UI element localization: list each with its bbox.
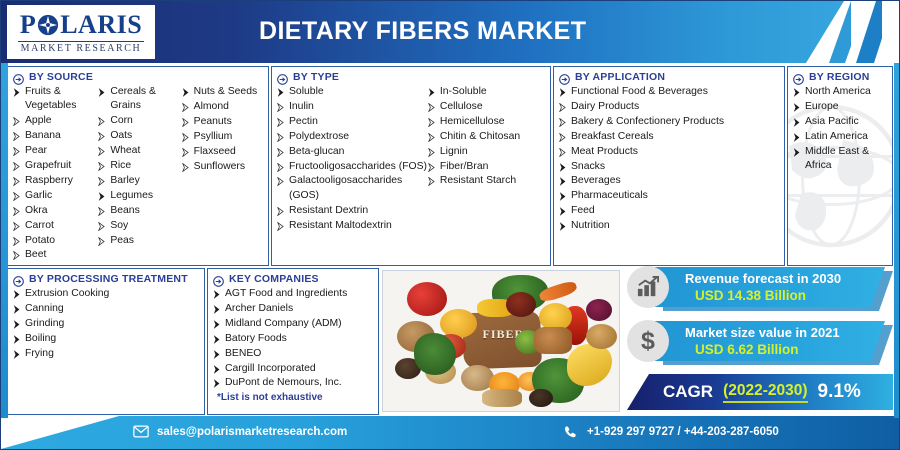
- chevron-outline-icon: [98, 159, 106, 173]
- chevron-outline-icon: [559, 130, 567, 144]
- chevron-outline-icon: [13, 204, 21, 218]
- chevron-outline-icon: [428, 130, 436, 144]
- photo-bread: [534, 327, 572, 354]
- section-header-by-region: BY REGION: [793, 71, 887, 83]
- chevron-outline-icon: [559, 115, 567, 129]
- dollar-sign-icon: $: [627, 320, 669, 362]
- list-item-label: Sunflowers: [194, 160, 263, 174]
- list-item-label: Barley: [110, 174, 181, 188]
- logo-wordmark: P LARIS: [20, 10, 142, 40]
- chevron-outline-icon: [13, 234, 21, 248]
- list-item-label: Breakfast Cereals: [571, 130, 779, 144]
- arrow-circle-icon: [277, 72, 288, 83]
- panel-by-processing-treatment: BY PROCESSING TREATMENT Extrusion Cookin…: [7, 268, 205, 415]
- list-item-label: Chitin & Chitosan: [440, 130, 545, 144]
- panel-by-application: BY APPLICATION Functional Food & Beverag…: [553, 66, 785, 266]
- list-item: Cargill Incorporated: [213, 362, 373, 376]
- list-item: Banana: [13, 129, 98, 143]
- key-companies-col-0: AGT Food and IngredientsArcher DanielsMi…: [213, 287, 373, 391]
- list-item: Polydextrose: [277, 130, 428, 144]
- section-title: BY REGION: [809, 71, 870, 83]
- chevron-outline-icon: [182, 160, 190, 174]
- list-item-label: Meat Products: [571, 145, 779, 159]
- chevron-outline-icon: [428, 100, 436, 114]
- by-region-columns: North AmericaEuropeAsia PacificLatin Ame…: [793, 85, 887, 174]
- phone-icon: [563, 425, 579, 439]
- chevron-outline-icon: [98, 144, 106, 158]
- list-item: Batory Foods: [213, 332, 373, 346]
- panel-key-companies: KEY COMPANIES AGT Food and IngredientsAr…: [207, 268, 379, 415]
- header: P LARIS MARKET RESEARCH DIETARY FIBERS M…: [1, 1, 899, 63]
- list-item-label: Midland Company (ADM): [225, 317, 373, 331]
- list-item-label: Boiling: [25, 332, 199, 346]
- envelope-icon: [133, 425, 149, 439]
- arrow-circle-icon: [213, 274, 224, 285]
- list-item: Nutrition: [559, 219, 779, 233]
- list-item: Resistant Starch: [428, 174, 545, 188]
- list-item: AGT Food and Ingredients: [213, 287, 373, 301]
- chevron-outline-icon: [98, 219, 106, 233]
- list-item: BENEO: [213, 347, 373, 361]
- chevron-outline-icon: [277, 130, 285, 144]
- chevron-solid-icon: [213, 317, 221, 331]
- callout-value: USD 14.38 Billion: [695, 288, 806, 303]
- chevron-solid-icon: [559, 189, 567, 203]
- chevron-solid-icon: [793, 145, 801, 159]
- list-item: Functional Food & Beverages: [559, 85, 779, 99]
- logo-letter-p: P: [20, 10, 36, 40]
- list-item-label: Hemicellulose: [440, 115, 545, 129]
- list-item-label: Potato: [25, 234, 98, 248]
- list-item-label: Pectin: [289, 115, 428, 129]
- list-item-label: Resistant Dextrin: [289, 204, 428, 218]
- chevron-outline-icon: [277, 145, 285, 159]
- chevron-outline-icon: [13, 144, 21, 158]
- chevron-outline-icon: [13, 159, 21, 173]
- list-item: Sunflowers: [182, 160, 263, 174]
- callout-value: USD 6.62 Billion: [695, 342, 799, 357]
- list-item: Corn: [98, 114, 181, 128]
- chevron-outline-icon: [13, 219, 21, 233]
- chevron-outline-icon: [182, 130, 190, 144]
- list-item-label: Nuts & Seeds: [194, 85, 263, 99]
- chevron-solid-icon: [559, 174, 567, 188]
- list-item: Almond: [182, 100, 263, 114]
- cagr-period: (2022-2030): [723, 382, 807, 403]
- list-item: Beta-glucan: [277, 145, 428, 159]
- chevron-outline-icon: [428, 160, 436, 174]
- list-item-label: Cereals & Grains: [110, 85, 181, 114]
- list-item-label: Canning: [25, 302, 199, 316]
- chevron-solid-icon: [213, 287, 221, 301]
- list-item-label: Soluble: [289, 85, 428, 99]
- list-item-label: BENEO: [225, 347, 373, 361]
- chevron-outline-icon: [182, 100, 190, 114]
- chevron-solid-icon: [277, 85, 285, 99]
- list-item: Inulin: [277, 100, 428, 114]
- chevron-outline-icon: [98, 174, 106, 188]
- list-item: Rice: [98, 159, 181, 173]
- list-item: Grapefruit: [13, 159, 98, 173]
- callout-label: Market size value in 2021: [685, 325, 840, 340]
- list-item-label: Fructooligosaccharides (FOS): [289, 160, 428, 174]
- list-item: Nuts & Seeds: [182, 85, 263, 99]
- section-title: BY APPLICATION: [575, 71, 665, 83]
- list-item: Midland Company (ADM): [213, 317, 373, 331]
- arrow-circle-icon: [13, 72, 24, 83]
- list-item-label: Banana: [25, 129, 98, 143]
- list-item-label: Almond: [194, 100, 263, 114]
- section-header-by-processing-treatment: BY PROCESSING TREATMENT: [13, 273, 199, 285]
- list-item: Feed: [559, 204, 779, 218]
- list-item-label: Latin America: [805, 130, 887, 144]
- list-item-label: Resistant Starch: [440, 174, 545, 188]
- chevron-outline-icon: [277, 219, 285, 233]
- page-title: DIETARY FIBERS MARKET: [259, 17, 586, 46]
- list-item: North America: [793, 85, 887, 99]
- list-item: Fruits & Vegetables: [13, 85, 98, 114]
- footer-email[interactable]: sales@polarismarketresearch.com: [133, 425, 347, 439]
- by-region-col-0: North AmericaEuropeAsia PacificLatin Ame…: [793, 85, 887, 174]
- list-item-label: Extrusion Cooking: [25, 287, 199, 301]
- list-item: Cereals & Grains: [98, 85, 181, 114]
- chevron-solid-icon: [13, 302, 21, 316]
- list-item-label: Cellulose: [440, 100, 545, 114]
- chevron-outline-icon: [428, 145, 436, 159]
- photo-kale-left: [414, 333, 456, 375]
- panel-by-region: BY REGION North AmericaEuropeAsia Pacifi…: [787, 66, 893, 266]
- footer-phone-text: +1-929 297 9727 / +44-203-287-6050: [587, 426, 779, 438]
- list-item: In-Soluble: [428, 85, 545, 99]
- chevron-solid-icon: [213, 332, 221, 346]
- list-item: Cellulose: [428, 100, 545, 114]
- list-item-label: Flaxseed: [194, 145, 263, 159]
- list-item-label: Frying: [25, 347, 199, 361]
- list-item-label: Bakery & Confectionery Products: [571, 115, 779, 129]
- list-item-label: Grapefruit: [25, 159, 98, 173]
- chevron-solid-icon: [428, 85, 436, 99]
- panel-by-type: BY TYPE SolubleInulinPectinPolydextroseB…: [271, 66, 551, 266]
- arrow-circle-icon: [559, 72, 570, 83]
- list-item-label: Nutrition: [571, 219, 779, 233]
- footer-white-wedge: [1, 416, 151, 449]
- list-item: Pear: [13, 144, 98, 158]
- by-processing-columns: Extrusion CookingCanningGrindingBoilingF…: [13, 287, 199, 362]
- chevron-solid-icon: [793, 115, 801, 129]
- chevron-outline-icon: [13, 129, 21, 143]
- list-item-label: Beet: [25, 248, 98, 262]
- chevron-outline-icon: [98, 129, 106, 143]
- list-item: Garlic: [13, 189, 98, 203]
- list-item-label: Beverages: [571, 174, 779, 188]
- photo-chia: [529, 389, 553, 407]
- arrow-circle-icon: [13, 274, 24, 285]
- chevron-solid-icon: [559, 204, 567, 218]
- list-item: Apple: [13, 114, 98, 128]
- body: BY SOURCE Fruits & VegetablesAppleBanana…: [1, 63, 899, 418]
- cagr-label: CAGR: [663, 382, 713, 402]
- list-item: Carrot: [13, 219, 98, 233]
- list-item: Okra: [13, 204, 98, 218]
- by-source-columns: Fruits & VegetablesAppleBananaPearGrapef…: [13, 85, 263, 263]
- chevron-outline-icon: [428, 115, 436, 129]
- section-header-by-application: BY APPLICATION: [559, 71, 779, 83]
- chevron-outline-icon: [98, 114, 106, 128]
- chevron-solid-icon: [213, 362, 221, 376]
- list-item: DuPont de Nemours, Inc.: [213, 376, 373, 390]
- list-item-label: Carrot: [25, 219, 98, 233]
- chevron-solid-icon: [559, 160, 567, 174]
- chevron-outline-icon: [559, 145, 567, 159]
- list-item: Pectin: [277, 115, 428, 129]
- list-item: Fiber/Bran: [428, 160, 545, 174]
- list-item: Bakery & Confectionery Products: [559, 115, 779, 129]
- chevron-solid-icon: [793, 100, 801, 114]
- list-item: Snacks: [559, 160, 779, 174]
- callout-revenue-forecast: Revenue forecast in 2030 USD 14.38 Billi…: [627, 267, 893, 311]
- list-item: Dairy Products: [559, 100, 779, 114]
- chevron-solid-icon: [793, 85, 801, 99]
- list-item-label: DuPont de Nemours, Inc.: [225, 376, 373, 390]
- by-processing-col-0: Extrusion CookingCanningGrindingBoilingF…: [13, 287, 199, 362]
- list-item: Hemicellulose: [428, 115, 545, 129]
- chevron-solid-icon: [98, 85, 106, 99]
- list-item: Frying: [13, 347, 199, 361]
- logo-tagline: MARKET RESEARCH: [18, 41, 144, 54]
- list-item: Peanuts: [182, 115, 263, 129]
- list-item-label: Feed: [571, 204, 779, 218]
- footer-email-text: sales@polarismarketresearch.com: [157, 426, 347, 438]
- chevron-outline-icon: [277, 115, 285, 129]
- section-header-by-source: BY SOURCE: [13, 71, 263, 83]
- by-application-col-0: Functional Food & BeveragesDairy Product…: [559, 85, 779, 234]
- logo-letters-olaris: LARIS: [60, 10, 142, 40]
- key-companies-note: *List is not exhaustive: [213, 392, 373, 403]
- list-item-label: In-Soluble: [440, 85, 545, 99]
- list-item: Pharmaceuticals: [559, 189, 779, 203]
- list-item-label: Asia Pacific: [805, 115, 887, 129]
- chevron-outline-icon: [277, 204, 285, 218]
- chevron-solid-icon: [13, 287, 21, 301]
- list-item-label: Oats: [110, 129, 181, 143]
- by-type-col-1: In-SolubleCelluloseHemicelluloseChitin &…: [428, 85, 545, 234]
- list-item: Europe: [793, 100, 887, 114]
- list-item-label: Galactooligosaccharides (GOS): [289, 174, 428, 203]
- chevron-solid-icon: [13, 85, 21, 99]
- chevron-solid-icon: [213, 347, 221, 361]
- list-item: Barley: [98, 174, 181, 188]
- infographic-page: P LARIS MARKET RESEARCH DIETARY FIBERS M…: [0, 0, 900, 450]
- section-header-by-type: BY TYPE: [277, 71, 545, 83]
- list-item-label: Rice: [110, 159, 181, 173]
- list-item-label: North America: [805, 85, 887, 99]
- photo-berries: [407, 282, 447, 316]
- list-item-label: Resistant Maltodextrin: [289, 219, 428, 233]
- list-item: Resistant Maltodextrin: [277, 219, 428, 233]
- list-item: Boiling: [13, 332, 199, 346]
- list-item-label: Peas: [110, 234, 181, 248]
- list-item-label: Fruits & Vegetables: [25, 85, 98, 114]
- list-item-label: Wheat: [110, 144, 181, 158]
- list-item-label: Cargill Incorporated: [225, 362, 373, 376]
- list-item-label: Inulin: [289, 100, 428, 114]
- chevron-solid-icon: [13, 317, 21, 331]
- list-item: Archer Daniels: [213, 302, 373, 316]
- list-item: Wheat: [98, 144, 181, 158]
- right-accent-strip: [894, 63, 899, 418]
- list-item: Meat Products: [559, 145, 779, 159]
- chevron-outline-icon: [277, 100, 285, 114]
- by-source-col-1: Cereals & GrainsCornOatsWheatRiceBarleyL…: [98, 85, 181, 263]
- chevron-outline-icon: [98, 234, 106, 248]
- list-item-label: Snacks: [571, 160, 779, 174]
- chevron-solid-icon: [559, 219, 567, 233]
- cagr-banner: CAGR (2022-2030) 9.1%: [627, 374, 893, 410]
- list-item-label: Raspberry: [25, 174, 98, 188]
- list-item: Oats: [98, 129, 181, 143]
- chevron-outline-icon: [277, 174, 285, 188]
- list-item-label: Pear: [25, 144, 98, 158]
- chevron-outline-icon: [559, 100, 567, 114]
- by-application-columns: Functional Food & BeveragesDairy Product…: [559, 85, 779, 234]
- by-source-col-2: Nuts & SeedsAlmondPeanutsPsylliumFlaxsee…: [182, 85, 263, 263]
- cagr-value: 9.1%: [818, 381, 861, 403]
- list-item: Middle East & Africa: [793, 145, 887, 174]
- list-item: Galactooligosaccharides (GOS): [277, 174, 428, 203]
- list-item: Breakfast Cereals: [559, 130, 779, 144]
- list-item-label: Corn: [110, 114, 181, 128]
- key-companies-columns: AGT Food and IngredientsArcher DanielsMi…: [213, 287, 373, 391]
- list-item-label: Apple: [25, 114, 98, 128]
- chevron-outline-icon: [277, 160, 285, 174]
- list-item: Raspberry: [13, 174, 98, 188]
- list-item-label: Functional Food & Beverages: [571, 85, 779, 99]
- list-item-label: Middle East & Africa: [805, 145, 887, 174]
- callout-market-size: $ Market size value in 2021 USD 6.62 Bil…: [627, 321, 893, 365]
- list-item: Grinding: [13, 317, 199, 331]
- footer: sales@polarismarketresearch.com +1-929 2…: [1, 416, 899, 449]
- list-item: Soy: [98, 219, 181, 233]
- list-item: Beans: [98, 204, 181, 218]
- chevron-solid-icon: [98, 189, 106, 203]
- list-item-label: Pharmaceuticals: [571, 189, 779, 203]
- list-item-label: Legumes: [110, 189, 181, 203]
- list-item-label: Beans: [110, 204, 181, 218]
- list-item-label: Garlic: [25, 189, 98, 203]
- section-title: BY SOURCE: [29, 71, 93, 83]
- chevron-outline-icon: [182, 145, 190, 159]
- list-item: Resistant Dextrin: [277, 204, 428, 218]
- list-item: Canning: [13, 302, 199, 316]
- photo-flaxseed: [482, 389, 522, 407]
- chevron-solid-icon: [182, 85, 190, 99]
- chevron-outline-icon: [182, 115, 190, 129]
- callout-label: Revenue forecast in 2030: [685, 271, 841, 286]
- chevron-outline-icon: [98, 204, 106, 218]
- list-item-label: Peanuts: [194, 115, 263, 129]
- list-item-label: Psyllium: [194, 130, 263, 144]
- chevron-outline-icon: [13, 174, 21, 188]
- chevron-solid-icon: [213, 376, 221, 390]
- brand-logo[interactable]: P LARIS MARKET RESEARCH: [7, 5, 155, 59]
- header-slash-2: [856, 1, 882, 63]
- by-source-col-0: Fruits & VegetablesAppleBananaPearGrapef…: [13, 85, 98, 263]
- list-item: Latin America: [793, 130, 887, 144]
- list-item: Beverages: [559, 174, 779, 188]
- section-title: BY TYPE: [293, 71, 339, 83]
- list-item: Flaxseed: [182, 145, 263, 159]
- list-item: Beet: [13, 248, 98, 262]
- list-item-label: Okra: [25, 204, 98, 218]
- list-item-label: Fiber/Bran: [440, 160, 545, 174]
- list-item: Legumes: [98, 189, 181, 203]
- chevron-solid-icon: [213, 302, 221, 316]
- list-item-label: Grinding: [25, 317, 199, 331]
- list-item-label: AGT Food and Ingredients: [225, 287, 373, 301]
- list-item-label: Lignin: [440, 145, 545, 159]
- fiber-rich-foods-photo: FIBER: [382, 270, 620, 412]
- chevron-outline-icon: [13, 248, 21, 262]
- list-item: Peas: [98, 234, 181, 248]
- by-type-col-0: SolubleInulinPectinPolydextroseBeta-gluc…: [277, 85, 428, 234]
- chevron-solid-icon: [793, 130, 801, 144]
- list-item: Fructooligosaccharides (FOS): [277, 160, 428, 174]
- list-item: Extrusion Cooking: [13, 287, 199, 301]
- footer-phone[interactable]: +1-929 297 9727 / +44-203-287-6050: [563, 425, 779, 439]
- list-item: Chitin & Chitosan: [428, 130, 545, 144]
- list-item-label: Soy: [110, 219, 181, 233]
- bar-chart-growth-icon: [627, 266, 669, 308]
- left-accent-strip: [1, 63, 8, 418]
- chevron-solid-icon: [559, 85, 567, 99]
- list-item-label: Dairy Products: [571, 100, 779, 114]
- chevron-outline-icon: [428, 174, 436, 188]
- list-item-label: Batory Foods: [225, 332, 373, 346]
- section-title: KEY COMPANIES: [229, 273, 319, 285]
- panel-by-source: BY SOURCE Fruits & VegetablesAppleBanana…: [7, 66, 269, 266]
- list-item: Asia Pacific: [793, 115, 887, 129]
- section-title: BY PROCESSING TREATMENT: [29, 273, 188, 285]
- list-item: Psyllium: [182, 130, 263, 144]
- list-item: Soluble: [277, 85, 428, 99]
- chevron-outline-icon: [13, 114, 21, 128]
- chevron-solid-icon: [13, 347, 21, 361]
- section-header-key-companies: KEY COMPANIES: [213, 273, 373, 285]
- arrow-circle-icon: [793, 72, 804, 83]
- list-item-label: Beta-glucan: [289, 145, 428, 159]
- compass-star-icon: [37, 14, 59, 36]
- photo-granola-bowl: [586, 324, 617, 349]
- list-item-label: Polydextrose: [289, 130, 428, 144]
- list-item-label: Europe: [805, 100, 887, 114]
- list-item: Lignin: [428, 145, 545, 159]
- chevron-solid-icon: [13, 332, 21, 346]
- list-item: Potato: [13, 234, 98, 248]
- by-type-columns: SolubleInulinPectinPolydextroseBeta-gluc…: [277, 85, 545, 234]
- chevron-outline-icon: [13, 189, 21, 203]
- list-item-label: Archer Daniels: [225, 302, 373, 316]
